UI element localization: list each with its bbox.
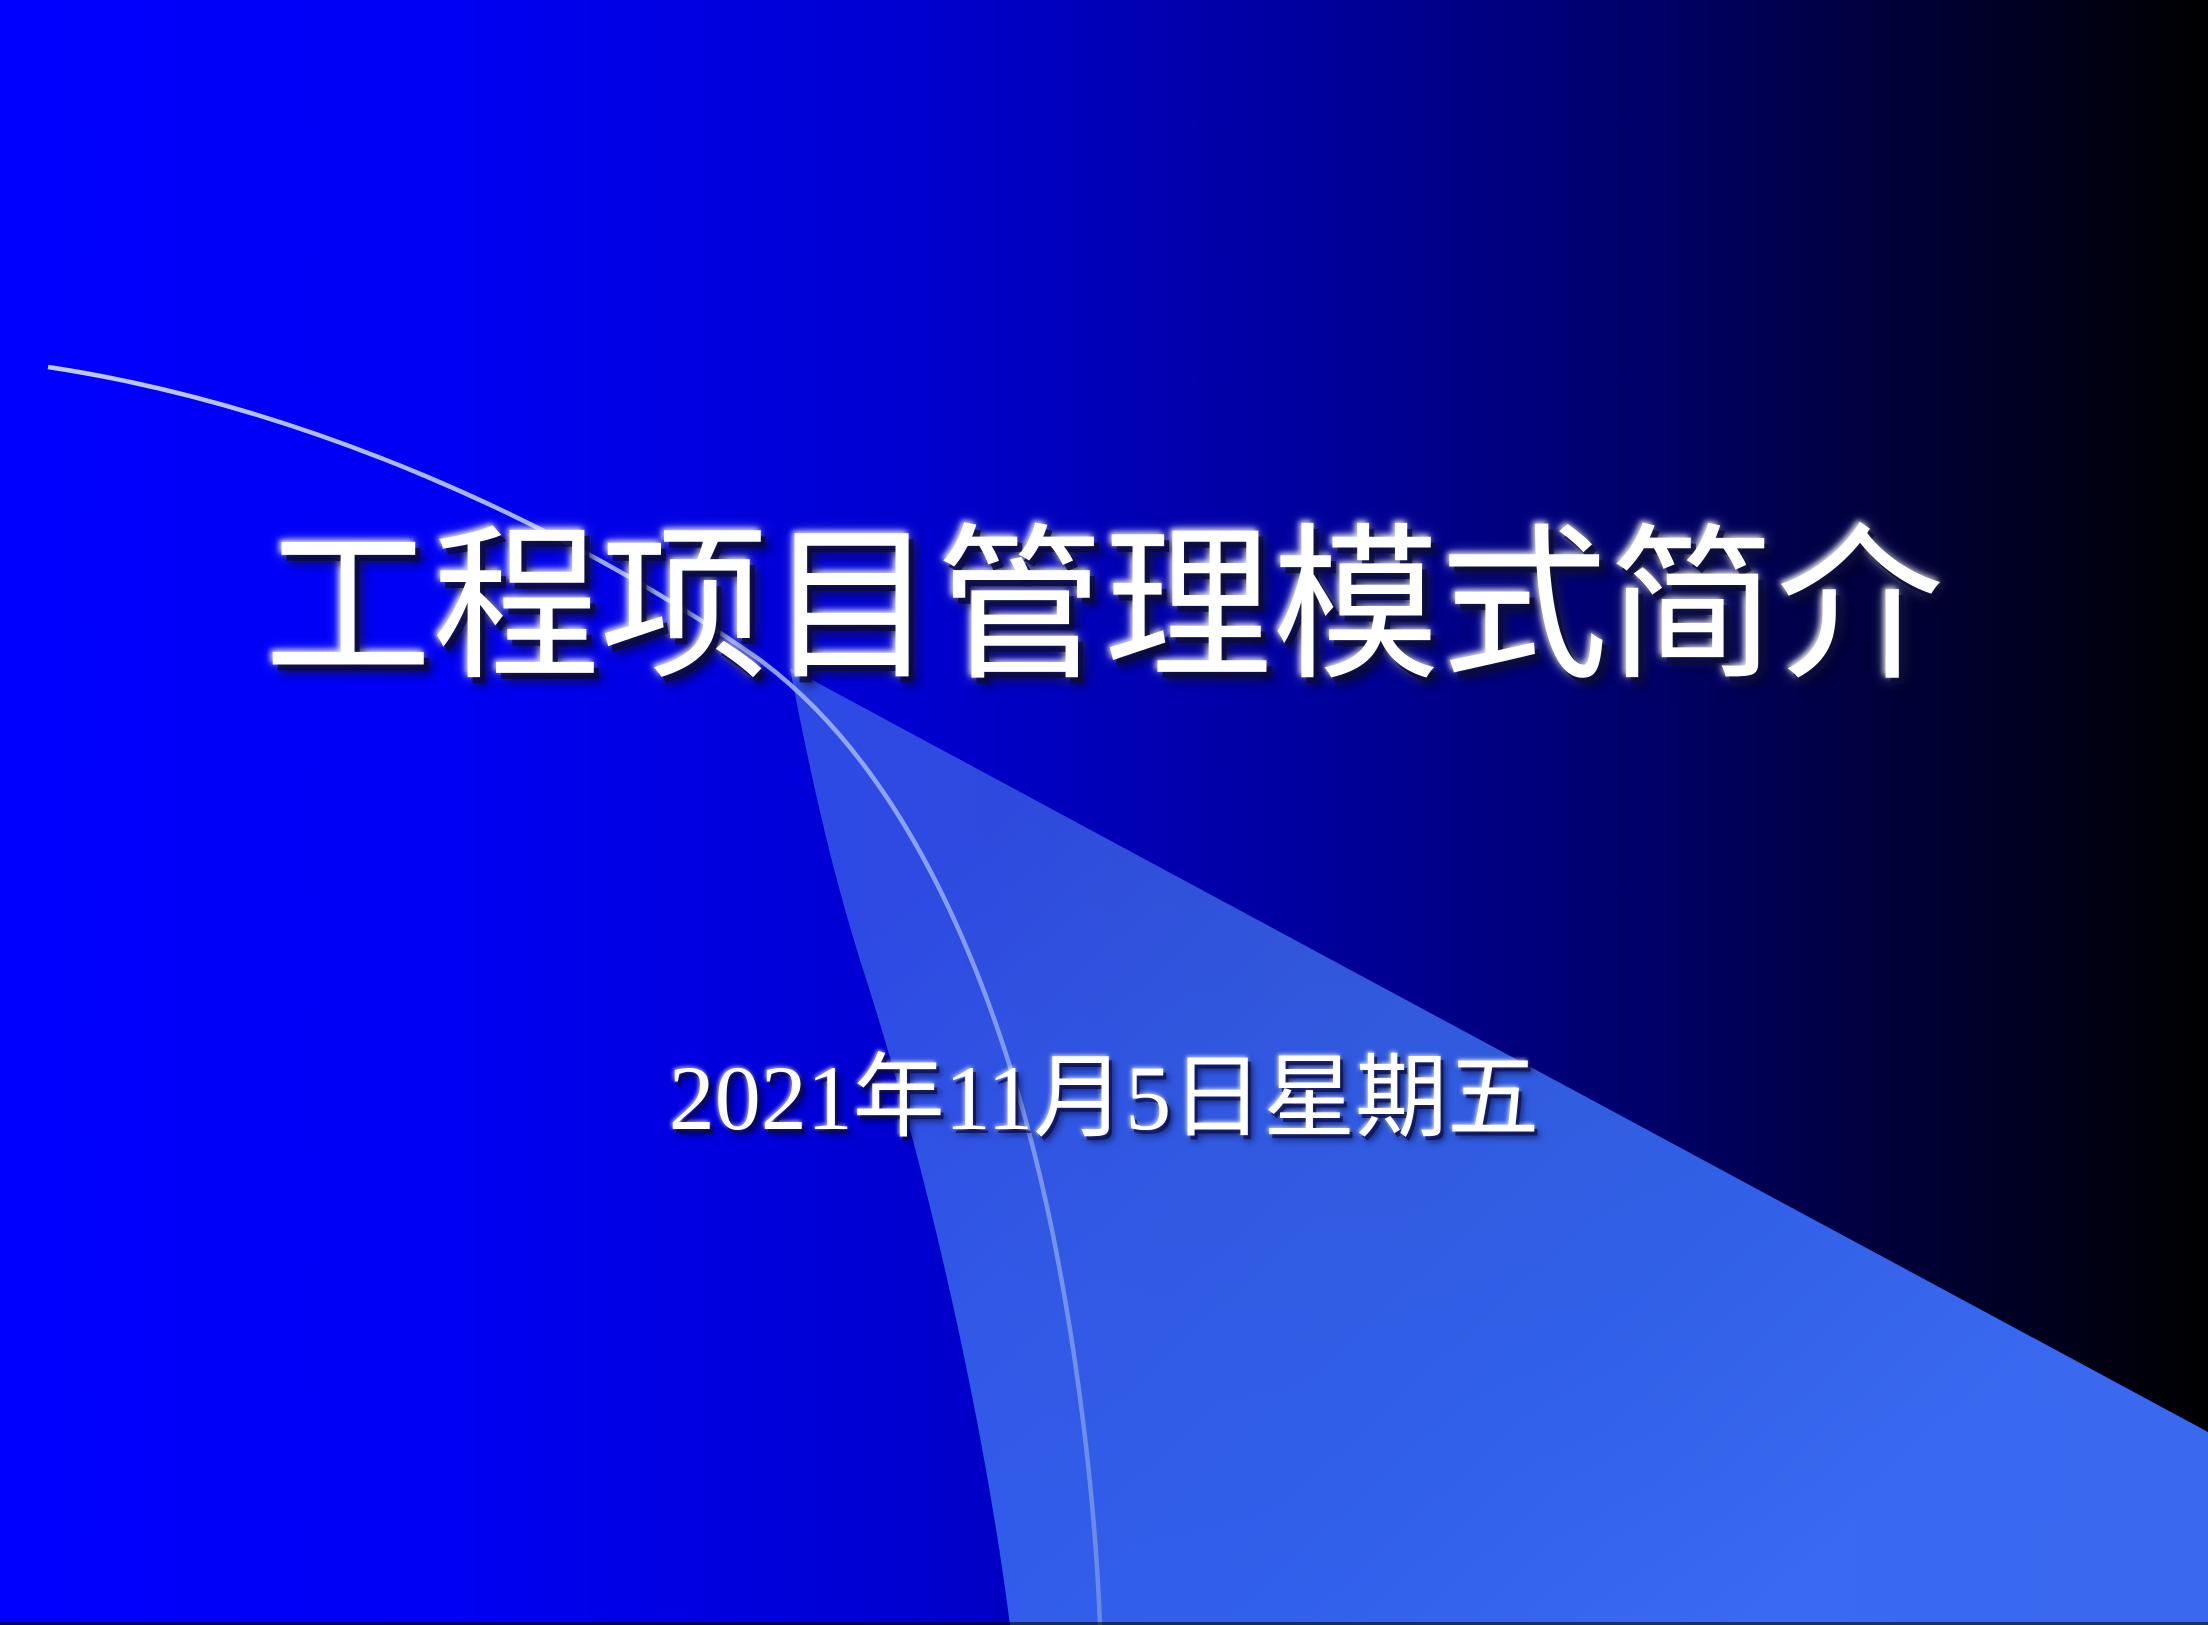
presentation-slide: 工程项目管理模式简介 2021年11月5日星期五 (0, 0, 2208, 1625)
slide-subtitle-date: 2021年11月5日星期五 (0, 1048, 2208, 1149)
slide-text-layer: 工程项目管理模式简介 2021年11月5日星期五 (0, 0, 2208, 1625)
slide-title: 工程项目管理模式简介 (0, 520, 2208, 696)
